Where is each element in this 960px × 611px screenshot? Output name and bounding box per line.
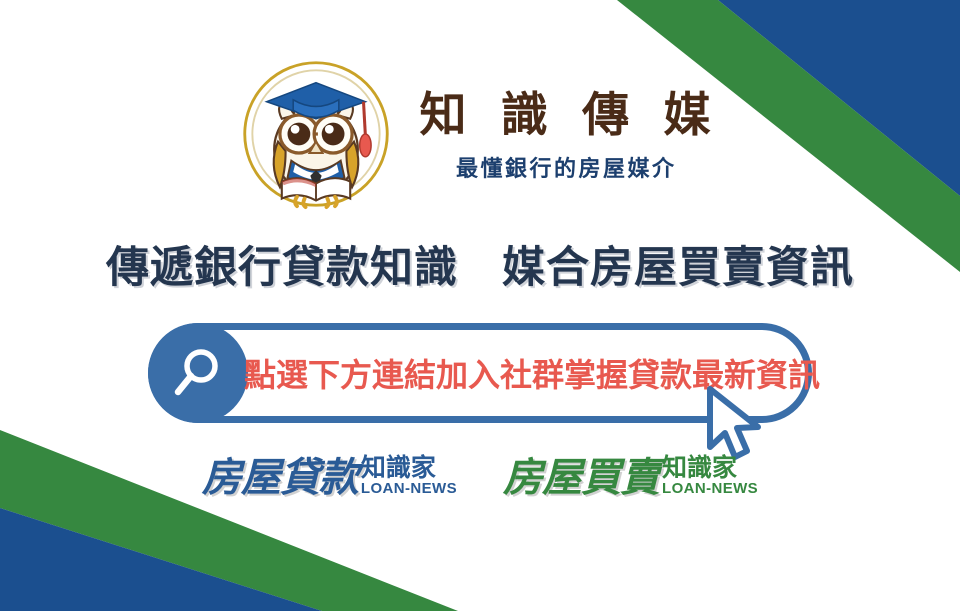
search-callout[interactable]: 點選下方連結加入社群掌握貸款最新資訊 bbox=[148, 323, 812, 423]
sublogo-loan-news[interactable]: 房屋貸款 知識家 LOAN-NEWS bbox=[202, 455, 457, 498]
sublogo-loan-english: LOAN-NEWS bbox=[361, 481, 457, 498]
sublogo-row: 房屋貸款 知識家 LOAN-NEWS 房屋買賣 知識家 LOAN-NEWS bbox=[0, 455, 960, 498]
owl-graduate-icon bbox=[240, 58, 392, 210]
brand-text-block: 知 識 傳 媒 最懂銀行的房屋媒介 bbox=[410, 85, 719, 184]
magnifier-icon bbox=[167, 342, 229, 404]
sublogo-trade-english: LOAN-NEWS bbox=[662, 481, 758, 498]
bottom-left-blue-band bbox=[0, 508, 322, 611]
brand-lockup: 知 識 傳 媒 最懂銀行的房屋媒介 bbox=[0, 58, 960, 210]
sublogo-loan-sub: 知識家 bbox=[361, 455, 436, 481]
search-icon-knob[interactable] bbox=[148, 323, 248, 423]
search-message: 點選下方連結加入社群掌握貸款最新資訊 bbox=[244, 323, 804, 423]
sublogo-loan-main: 房屋貸款 bbox=[202, 458, 358, 498]
page-headline: 傳遞銀行貸款知識 媒合房屋買賣資訊 bbox=[0, 233, 960, 295]
brand-tagline: 最懂銀行的房屋媒介 bbox=[453, 151, 676, 183]
sublogo-trade-sub: 知識家 bbox=[662, 455, 737, 481]
sublogo-trade-right: 知識家 LOAN-NEWS bbox=[662, 455, 758, 498]
sublogo-trade-news[interactable]: 房屋買賣 知識家 LOAN-NEWS bbox=[503, 455, 758, 498]
brand-title: 知 識 傳 媒 bbox=[410, 91, 719, 142]
sublogo-trade-main: 房屋買賣 bbox=[503, 458, 659, 498]
promo-poster: 知 識 傳 媒 最懂銀行的房屋媒介 傳遞銀行貸款知識 媒合房屋買賣資訊 點選下方… bbox=[0, 0, 960, 611]
sublogo-loan-right: 知識家 LOAN-NEWS bbox=[361, 455, 457, 498]
